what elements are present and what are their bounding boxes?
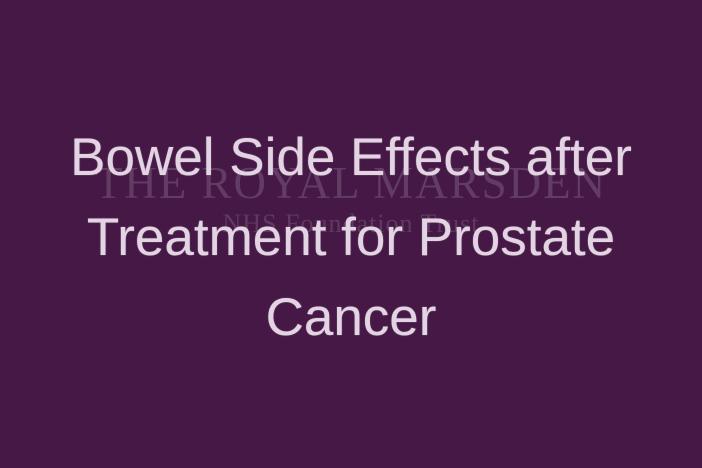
title-line-2: Treatment for Prostate	[0, 198, 702, 278]
title-line-1: Bowel Side Effects after	[0, 118, 702, 198]
title-slide: THE ROYAL MARSDEN NHS Foundation Trust B…	[0, 0, 702, 468]
title-line-3: Cancer	[0, 278, 702, 358]
page-title: Bowel Side Effects after Treatment for P…	[0, 118, 702, 358]
